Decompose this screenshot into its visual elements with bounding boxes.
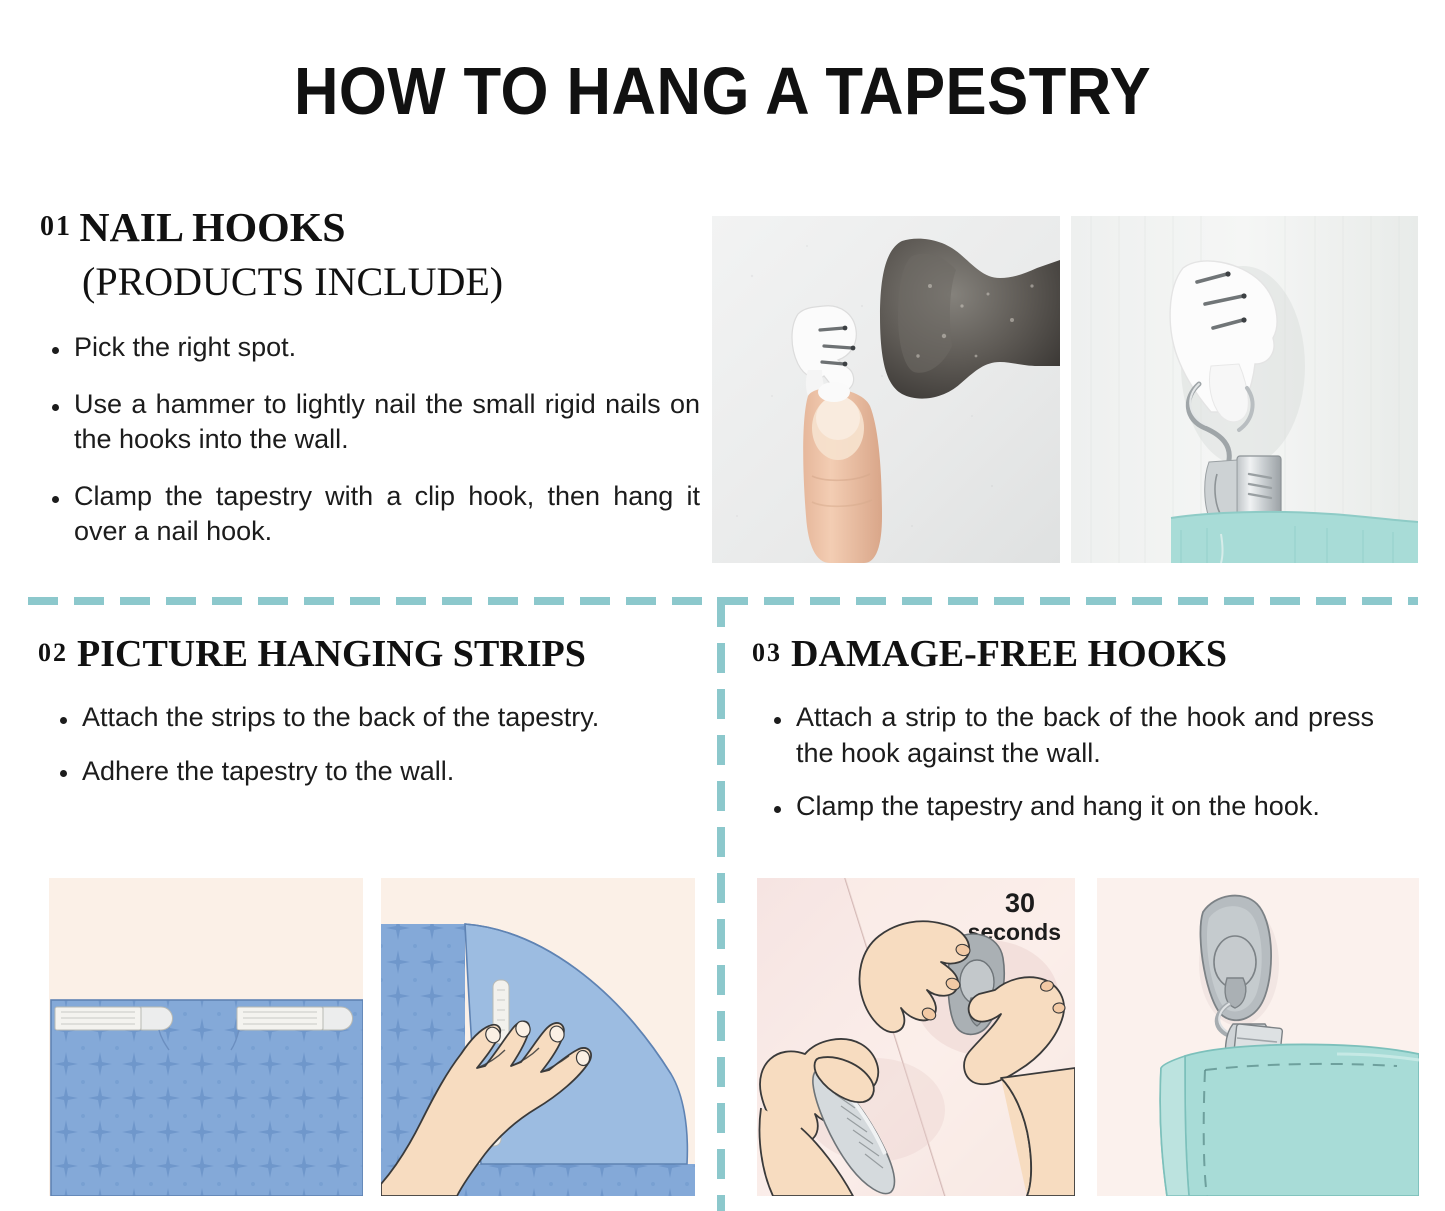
list-item: Use a hammer to lightly nail the small r… [36,387,700,457]
thirty-seconds-line1: 30 [1005,888,1035,918]
list-item: Clamp the tapestry with a clip hook, the… [36,479,700,549]
list-item: Clamp the tapestry and hang it on the ho… [758,789,1374,825]
section-02-title: PICTURE HANGING STRIPS [77,632,586,676]
press-hook-illustration: 30 seconds [757,878,1075,1196]
section-03-bullet-list: Attach a strip to the back of the hook a… [758,700,1374,843]
section-02-number: 02 [38,638,68,667]
section-03-heading: 03DAMAGE-FREE HOOKS [752,632,1227,676]
section-02-bullet-list: Attach the strips to the back of the tap… [44,700,644,807]
page-title: HOW TO HANG A TAPESTRY [58,53,1387,130]
hand-pressing-tapestry-illustration [381,878,695,1196]
infographic-page: HOW TO HANG A TAPESTRY 01NAIL HOOKS (PRO… [0,0,1445,1211]
tapestry-strips-illustration [49,878,363,1196]
section-03-title: DAMAGE-FREE HOOKS [791,632,1227,676]
section-01-title: NAIL HOOKS [79,203,345,251]
section-01-subtitle: (PRODUCTS INCLUDE) [82,258,503,305]
nail-hook-hammer-photo [712,216,1060,563]
section-01-bullet-list: Pick the right spot. Use a hammer to lig… [36,330,700,571]
section-01-number: 01 [40,211,72,242]
section-01-heading: 01NAIL HOOKS [40,203,343,251]
section-03-number: 03 [752,638,782,667]
hook-clip-mint-tapestry-illustration [1097,878,1419,1196]
nail-hook-clip-photo [1071,216,1418,563]
vertical-dashed-divider [717,597,725,1211]
list-item: Pick the right spot. [36,330,700,365]
list-item: Attach a strip to the back of the hook a… [758,700,1374,771]
list-item: Attach the strips to the back of the tap… [44,700,644,736]
list-item: Adhere the tapestry to the wall. [44,754,644,790]
section-02-heading: 02PICTURE HANGING STRIPS [38,632,586,676]
